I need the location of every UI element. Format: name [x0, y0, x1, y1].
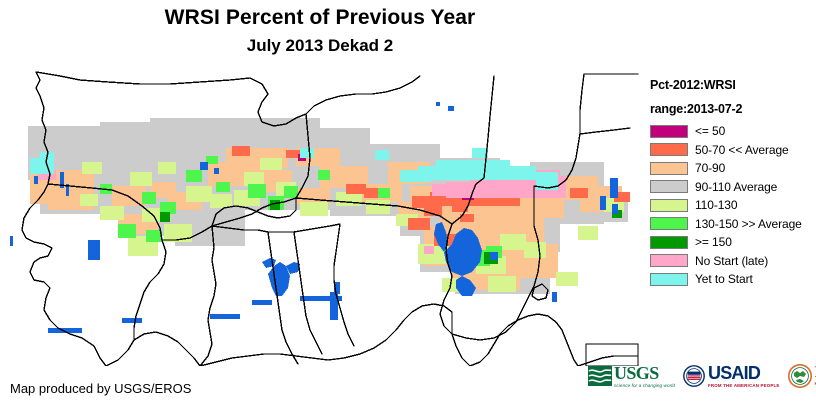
wrsi-map-svg — [0, 66, 640, 366]
map-legend: Pct-2012:WRSI range:2013-07-2 <= 50 50-7… — [646, 70, 816, 310]
legend-item-label: 70-90 — [695, 161, 725, 175]
legend-item[interactable]: 50-70 << Average — [650, 141, 816, 160]
legend-header: Pct-2012:WRSI — [650, 78, 816, 92]
map-canvas[interactable] — [0, 66, 640, 366]
legend-range: range:2013-07-2 — [650, 102, 816, 116]
legend-swatch — [650, 217, 688, 230]
usaid-logo[interactable]: USAID FROM THE AMERICAN PEOPLE — [683, 364, 779, 388]
usaid-seal-icon — [683, 365, 705, 387]
legend-item[interactable]: 130-150 >> Average — [650, 215, 816, 234]
legend-item[interactable]: <= 50 — [650, 122, 816, 141]
legend-item[interactable]: Yet to Start — [650, 270, 816, 289]
usaid-wordmark: USAID — [708, 364, 779, 382]
legend-swatch — [650, 180, 688, 193]
legend-swatch — [650, 199, 688, 212]
legend-items-list: <= 50 50-70 << Average 70-90 90-110 Aver… — [650, 122, 816, 289]
agency-logos: USGS science for a changing world USAID … — [588, 364, 816, 388]
page-subtitle: July 2013 Dekad 2 — [0, 36, 640, 56]
legend-item-label: <= 50 — [695, 124, 725, 138]
legend-item[interactable]: >= 150 — [650, 233, 816, 252]
legend-item-label: 90-110 Average — [695, 180, 777, 194]
legend-item-label: >= 150 — [695, 235, 732, 249]
legend-item[interactable]: 70-90 — [650, 159, 816, 178]
legend-swatch — [650, 273, 688, 286]
legend-item[interactable]: No Start (late) — [650, 252, 816, 271]
legend-item-label: 110-130 — [695, 198, 737, 212]
fews-net-logo[interactable]: FEWS NET FAMINE EARLY WARNING SYSTEMS NE… — [788, 364, 816, 388]
globe-icon — [788, 364, 812, 388]
legend-item-label: No Start (late) — [695, 254, 768, 268]
map-credit: Map produced by USGS/EROS — [10, 381, 191, 396]
legend-swatch — [650, 143, 688, 156]
legend-swatch — [650, 254, 688, 267]
usgs-tagline: science for a changing world — [614, 384, 675, 389]
legend-swatch — [650, 125, 688, 138]
legend-item-label: 50-70 << Average — [695, 143, 789, 157]
usgs-wave-icon — [588, 366, 612, 386]
usgs-wordmark: USGS — [614, 364, 675, 382]
legend-item[interactable]: 90-110 Average — [650, 178, 816, 197]
usgs-logo[interactable]: USGS science for a changing world — [588, 364, 675, 388]
legend-item-label: 130-150 >> Average — [695, 217, 802, 231]
legend-swatch — [650, 236, 688, 249]
usaid-tagline: FROM THE AMERICAN PEOPLE — [708, 384, 779, 388]
legend-item[interactable]: 110-130 — [650, 196, 816, 215]
legend-item-label: Yet to Start — [695, 272, 753, 286]
screenshot-root: WRSI Percent of Previous Year July 2013 … — [0, 0, 816, 403]
page-title: WRSI Percent of Previous Year — [0, 6, 640, 30]
legend-swatch — [650, 162, 688, 175]
